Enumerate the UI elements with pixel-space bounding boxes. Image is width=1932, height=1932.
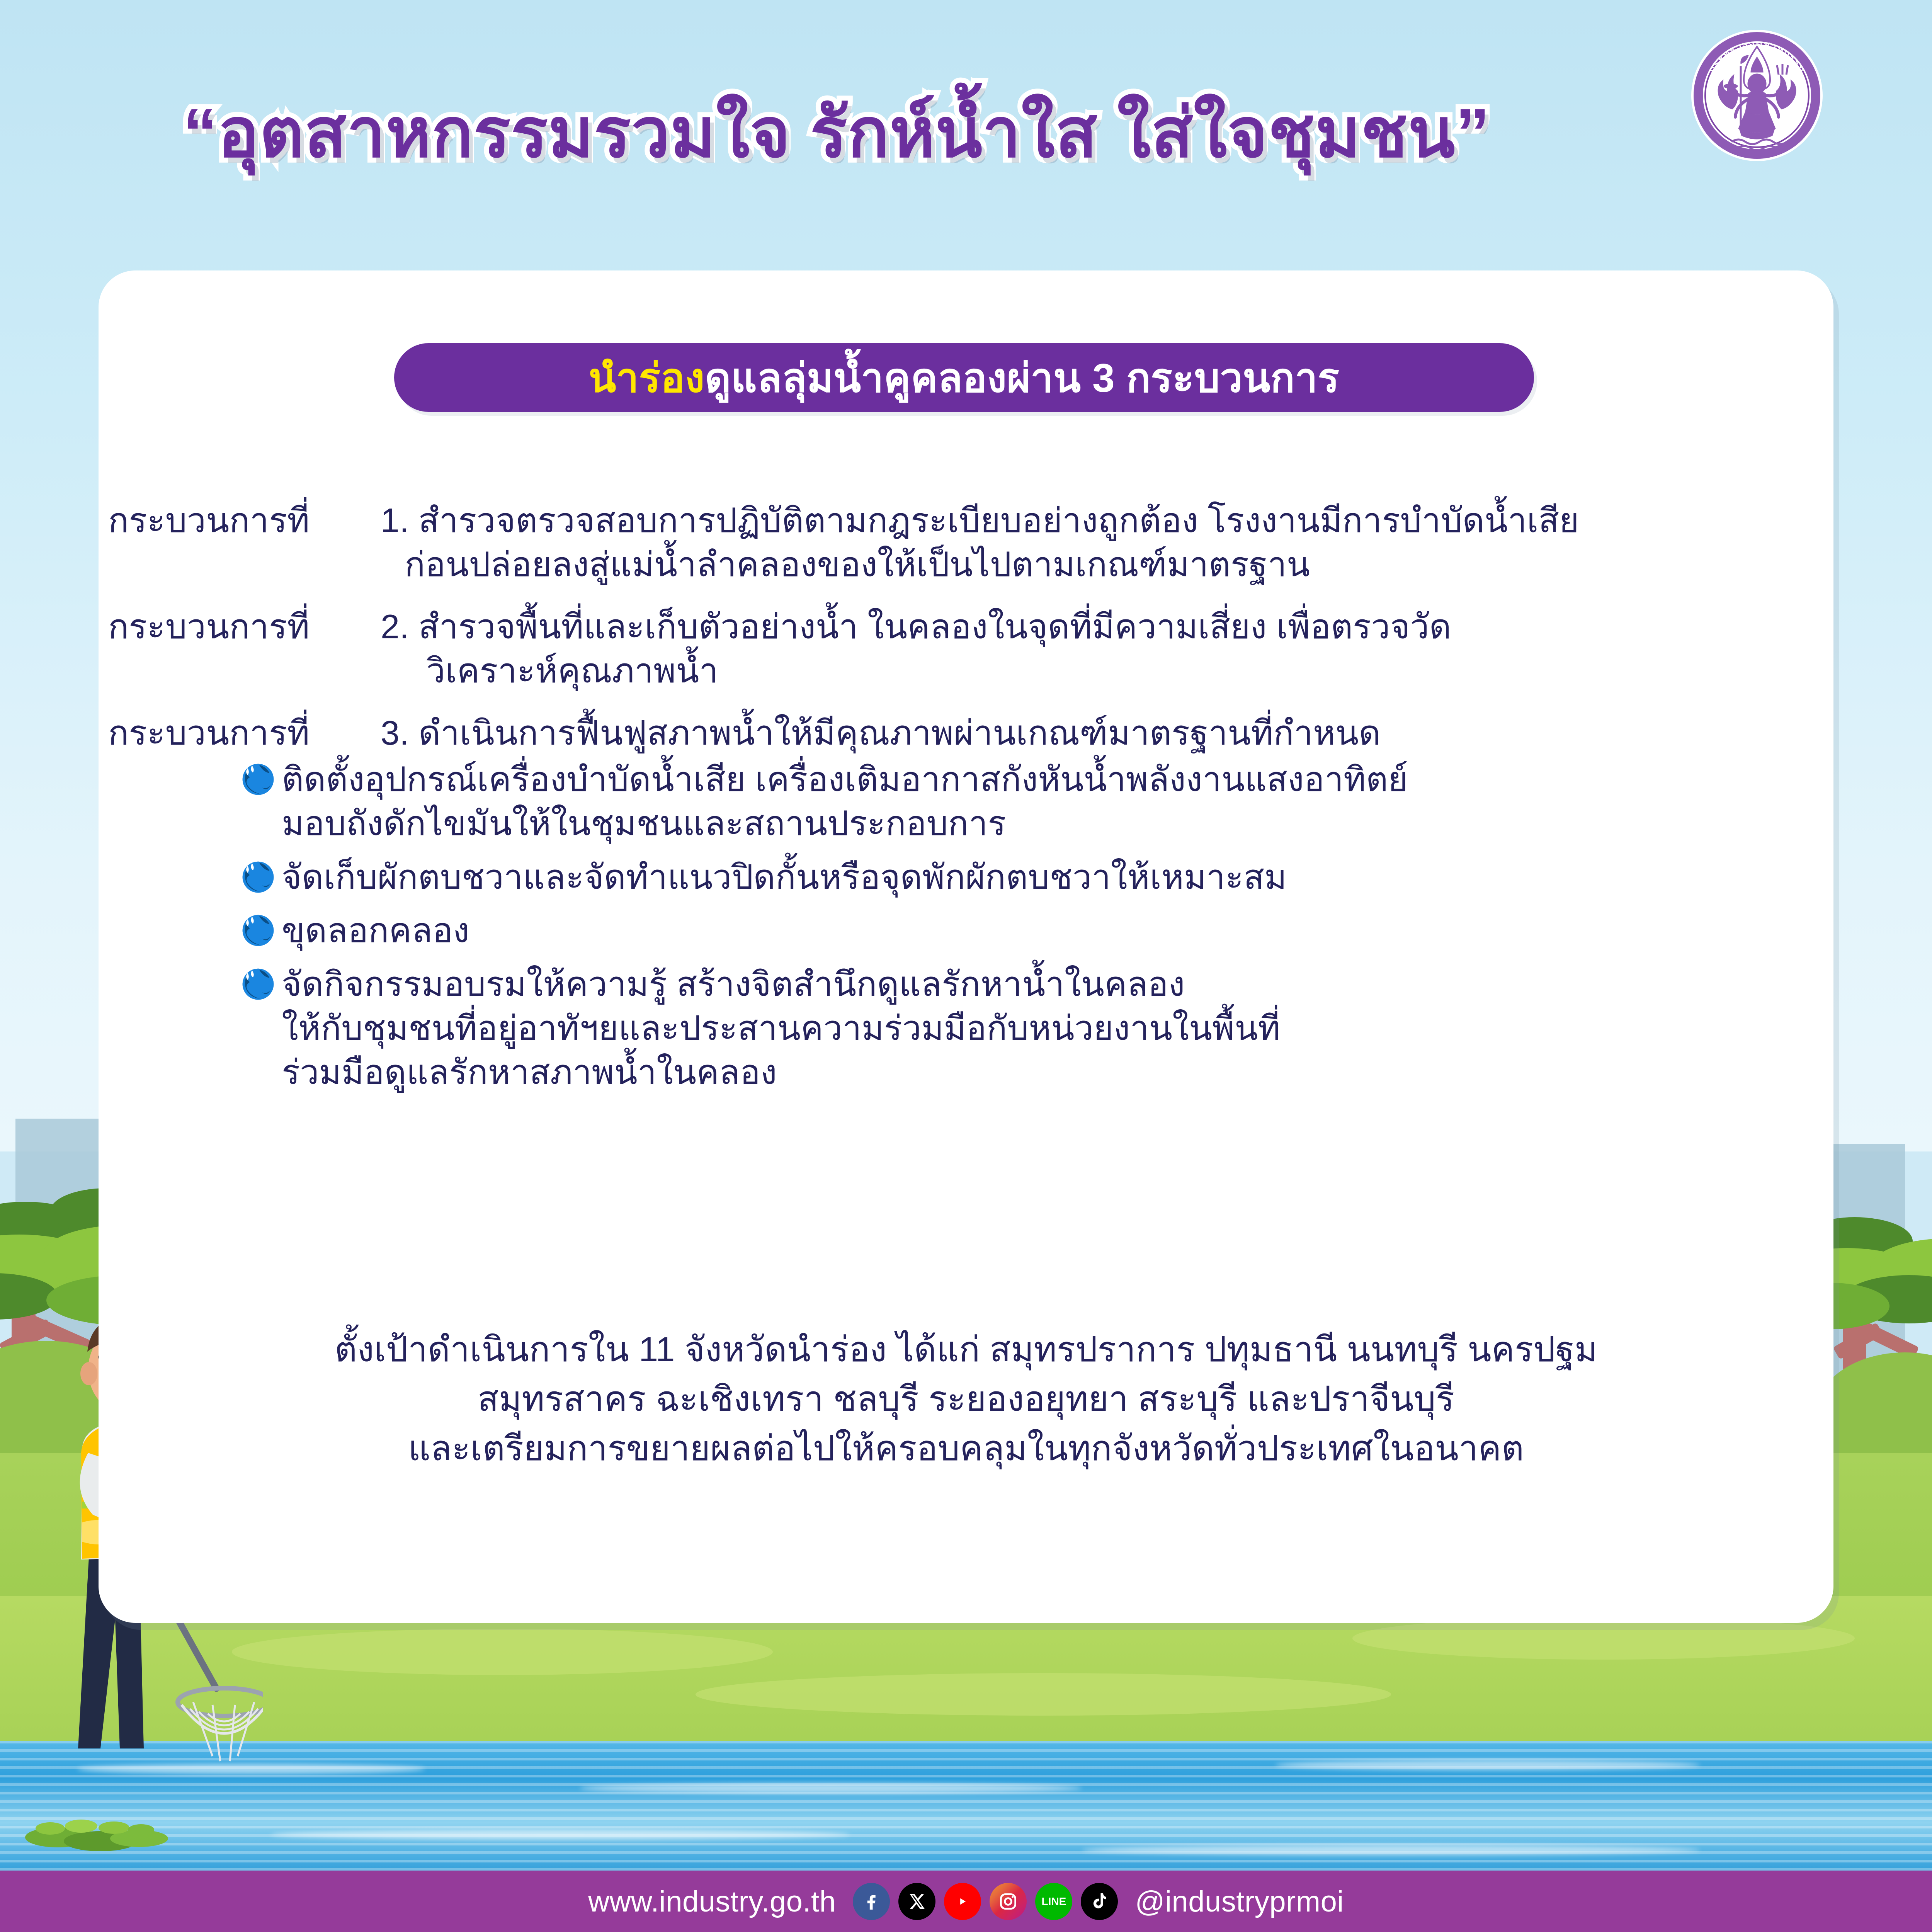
process-number: 2.: [381, 607, 409, 646]
process-item-1: กระบวนการที่ 1. สำรวจตรวจสอบการปฏิบัติตา…: [99, 498, 1833, 587]
list-item: จัดเก็บผักตบชวาและจัดทำแนวปิดกั้นหรือจุด…: [241, 855, 1833, 899]
facebook-icon[interactable]: [853, 1883, 890, 1920]
closing-line: และเตรียมการขยายผลต่อไปให้ครอบคลุมในทุกจ…: [99, 1424, 1833, 1474]
globe-asia-icon: [241, 763, 275, 796]
list-item-text: ติดตั้งอุปกรณ์เครื่องบำบัดน้ำเสีย เครื่อ…: [282, 757, 1408, 846]
instagram-icon[interactable]: [990, 1883, 1027, 1920]
list-item: ขุดลอกคลอง: [241, 908, 1833, 952]
process-number: 3.: [381, 714, 409, 752]
process-line-2: วิเคราะห์คุณภาพน้ำ: [381, 649, 1833, 693]
social-handle[interactable]: @industryprmoi: [1135, 1885, 1344, 1918]
globe-asia-icon: [241, 914, 275, 947]
grass-highlight: [1352, 1617, 1855, 1660]
process-text: 2. สำรวจพื้นที่และเก็บตัวอย่างน้ำ ในคลอง…: [381, 605, 1833, 693]
banner-rest: ดูแลลุ่มน้ำคูคลองผ่าน 3 กระบวนการ: [705, 356, 1340, 401]
process-label: กระบวนการที่: [99, 498, 381, 587]
title-area: “อุตสาหกรรมรวมใจ รักห์น้ำใส ใส่ใจชุมชน”: [0, 99, 1673, 167]
process-line-2: ก่อนปล่อยลงสู่แม่น้ำลำคลองของให้เป็นไปตา…: [381, 543, 1833, 587]
process-line-1: สำรวจพื้นที่และเก็บตัวอย่างน้ำ ในคลองในจ…: [418, 607, 1451, 646]
list-item-text: จัดเก็บผักตบชวาและจัดทำแนวปิดกั้นหรือจุด…: [282, 855, 1287, 899]
closing-paragraph: ตั้งเป้าดำเนินการใน 11 จังหวัดนำร่อง ได้…: [99, 1325, 1833, 1473]
grass-highlight: [232, 1629, 773, 1675]
closing-line: สมุทรสาคร ฉะเชิงเทรา ชลบุรี ระยองอยุทยา …: [99, 1375, 1833, 1424]
banner-highlight: นำร่อง: [588, 356, 705, 401]
bullet-list: ติดตั้งอุปกรณ์เครื่องบำบัดน้ำเสีย เครื่อ…: [99, 757, 1833, 1095]
website-url[interactable]: www.industry.go.th: [588, 1885, 836, 1918]
list-item-text: ขุดลอกคลอง: [282, 908, 469, 952]
processes-list: กระบวนการที่ 1. สำรวจตรวจสอบการปฏิบัติตา…: [99, 498, 1833, 1104]
process-text: 3. ดำเนินการฟื้นฟูสภาพน้ำให้มีคุณภาพผ่าน…: [381, 711, 1833, 755]
x-twitter-icon[interactable]: [898, 1883, 935, 1920]
process-text: 1. สำรวจตรวจสอบการปฏิบัติตามกฎระเบียบอย่…: [381, 498, 1833, 587]
list-item: จัดกิจกรรมอบรมให้ความรู้ สร้างจิตสำนึกดู…: [241, 962, 1833, 1095]
list-item-text: จัดกิจกรรมอบรมให้ความรู้ สร้างจิตสำนึกดู…: [282, 962, 1280, 1095]
process-number: 1.: [381, 501, 409, 539]
water-hyacinth-clump: [23, 1801, 185, 1859]
list-item: ติดตั้งอุปกรณ์เครื่องบำบัดน้ำเสีย เครื่อ…: [241, 757, 1833, 846]
process-item-3: กระบวนการที่ 3. ดำเนินการฟื้นฟูสภาพน้ำให…: [99, 711, 1833, 755]
section-heading-banner: นำร่องดูแลลุ่มน้ำคูคลองผ่าน 3 กระบวนการ: [394, 343, 1534, 412]
tiktok-icon[interactable]: [1081, 1883, 1118, 1920]
ministry-of-industry-seal: กระทรวงอุตสาหกรรม MINISTRY OF INDUSTRY: [1690, 29, 1824, 162]
line-icon[interactable]: LINE: [1035, 1883, 1072, 1920]
process-label: กระบวนการที่: [99, 605, 381, 693]
process-label: กระบวนการที่: [99, 711, 381, 755]
closing-line: ตั้งเป้าดำเนินการใน 11 จังหวัดนำร่อง ได้…: [99, 1325, 1833, 1375]
social-links: LINE: [853, 1883, 1118, 1920]
process-item-2: กระบวนการที่ 2. สำรวจพื้นที่และเก็บตัวอย…: [99, 605, 1833, 693]
grass-highlight: [696, 1673, 1391, 1716]
youtube-icon[interactable]: [944, 1883, 981, 1920]
footer-bar: www.industry.go.th LINE @industryprmoi: [0, 1871, 1932, 1932]
process-line-1: สำรวจตรวจสอบการปฏิบัติตามกฎระเบียบอย่างถ…: [418, 501, 1579, 539]
water-canal: [0, 1741, 1932, 1889]
globe-asia-icon: [241, 968, 275, 1001]
globe-asia-icon: [241, 861, 275, 894]
page-title: “อุตสาหกรรมรวมใจ รักห์น้ำใส ใส่ใจชุมชน”: [183, 99, 1490, 167]
process-line-1: ดำเนินการฟื้นฟูสภาพน้ำให้มีคุณภาพผ่านเกณ…: [418, 714, 1381, 752]
